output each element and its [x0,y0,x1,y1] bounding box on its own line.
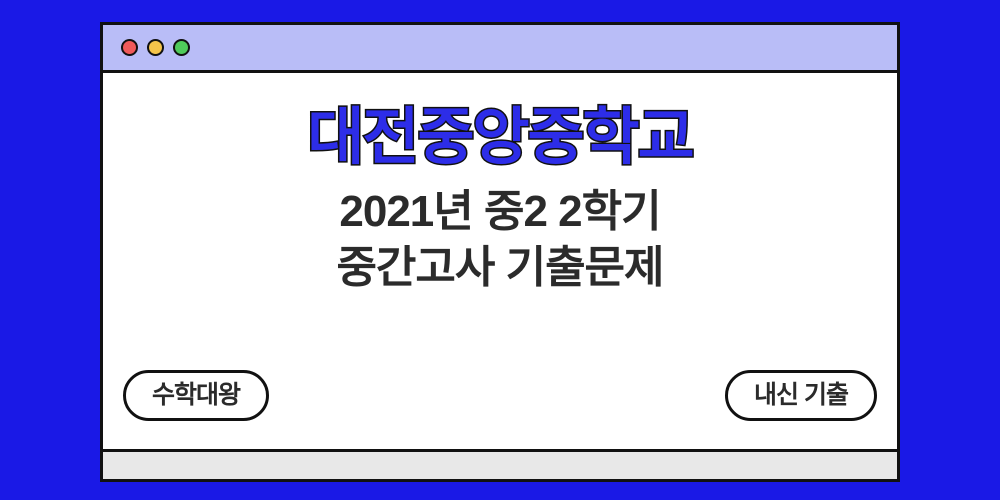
badge-row: 수학대왕 내신 기출 [103,370,897,421]
page-title: 대전중앙중학교 [307,105,692,170]
subtitle-line-2: 중간고사 기출문제 [336,240,663,296]
subtitle-line-1: 2021년 중2 2학기 [336,184,663,240]
window-titlebar [103,25,897,73]
window-content: 대전중앙중학교 2021년 중2 2학기 중간고사 기출문제 수학대왕 내신 기… [103,73,897,479]
minimize-icon[interactable] [147,39,164,56]
brand-badge: 수학대왕 [123,370,269,421]
subtitle-block: 2021년 중2 2학기 중간고사 기출문제 [336,184,663,297]
category-badge: 내신 기출 [725,370,877,421]
window-footer-bar [103,449,897,479]
close-icon[interactable] [121,39,138,56]
maximize-icon[interactable] [173,39,190,56]
poster-canvas: 대전중앙중학교 2021년 중2 2학기 중간고사 기출문제 수학대왕 내신 기… [0,0,1000,500]
browser-window-mock: 대전중앙중학교 2021년 중2 2학기 중간고사 기출문제 수학대왕 내신 기… [100,22,900,482]
